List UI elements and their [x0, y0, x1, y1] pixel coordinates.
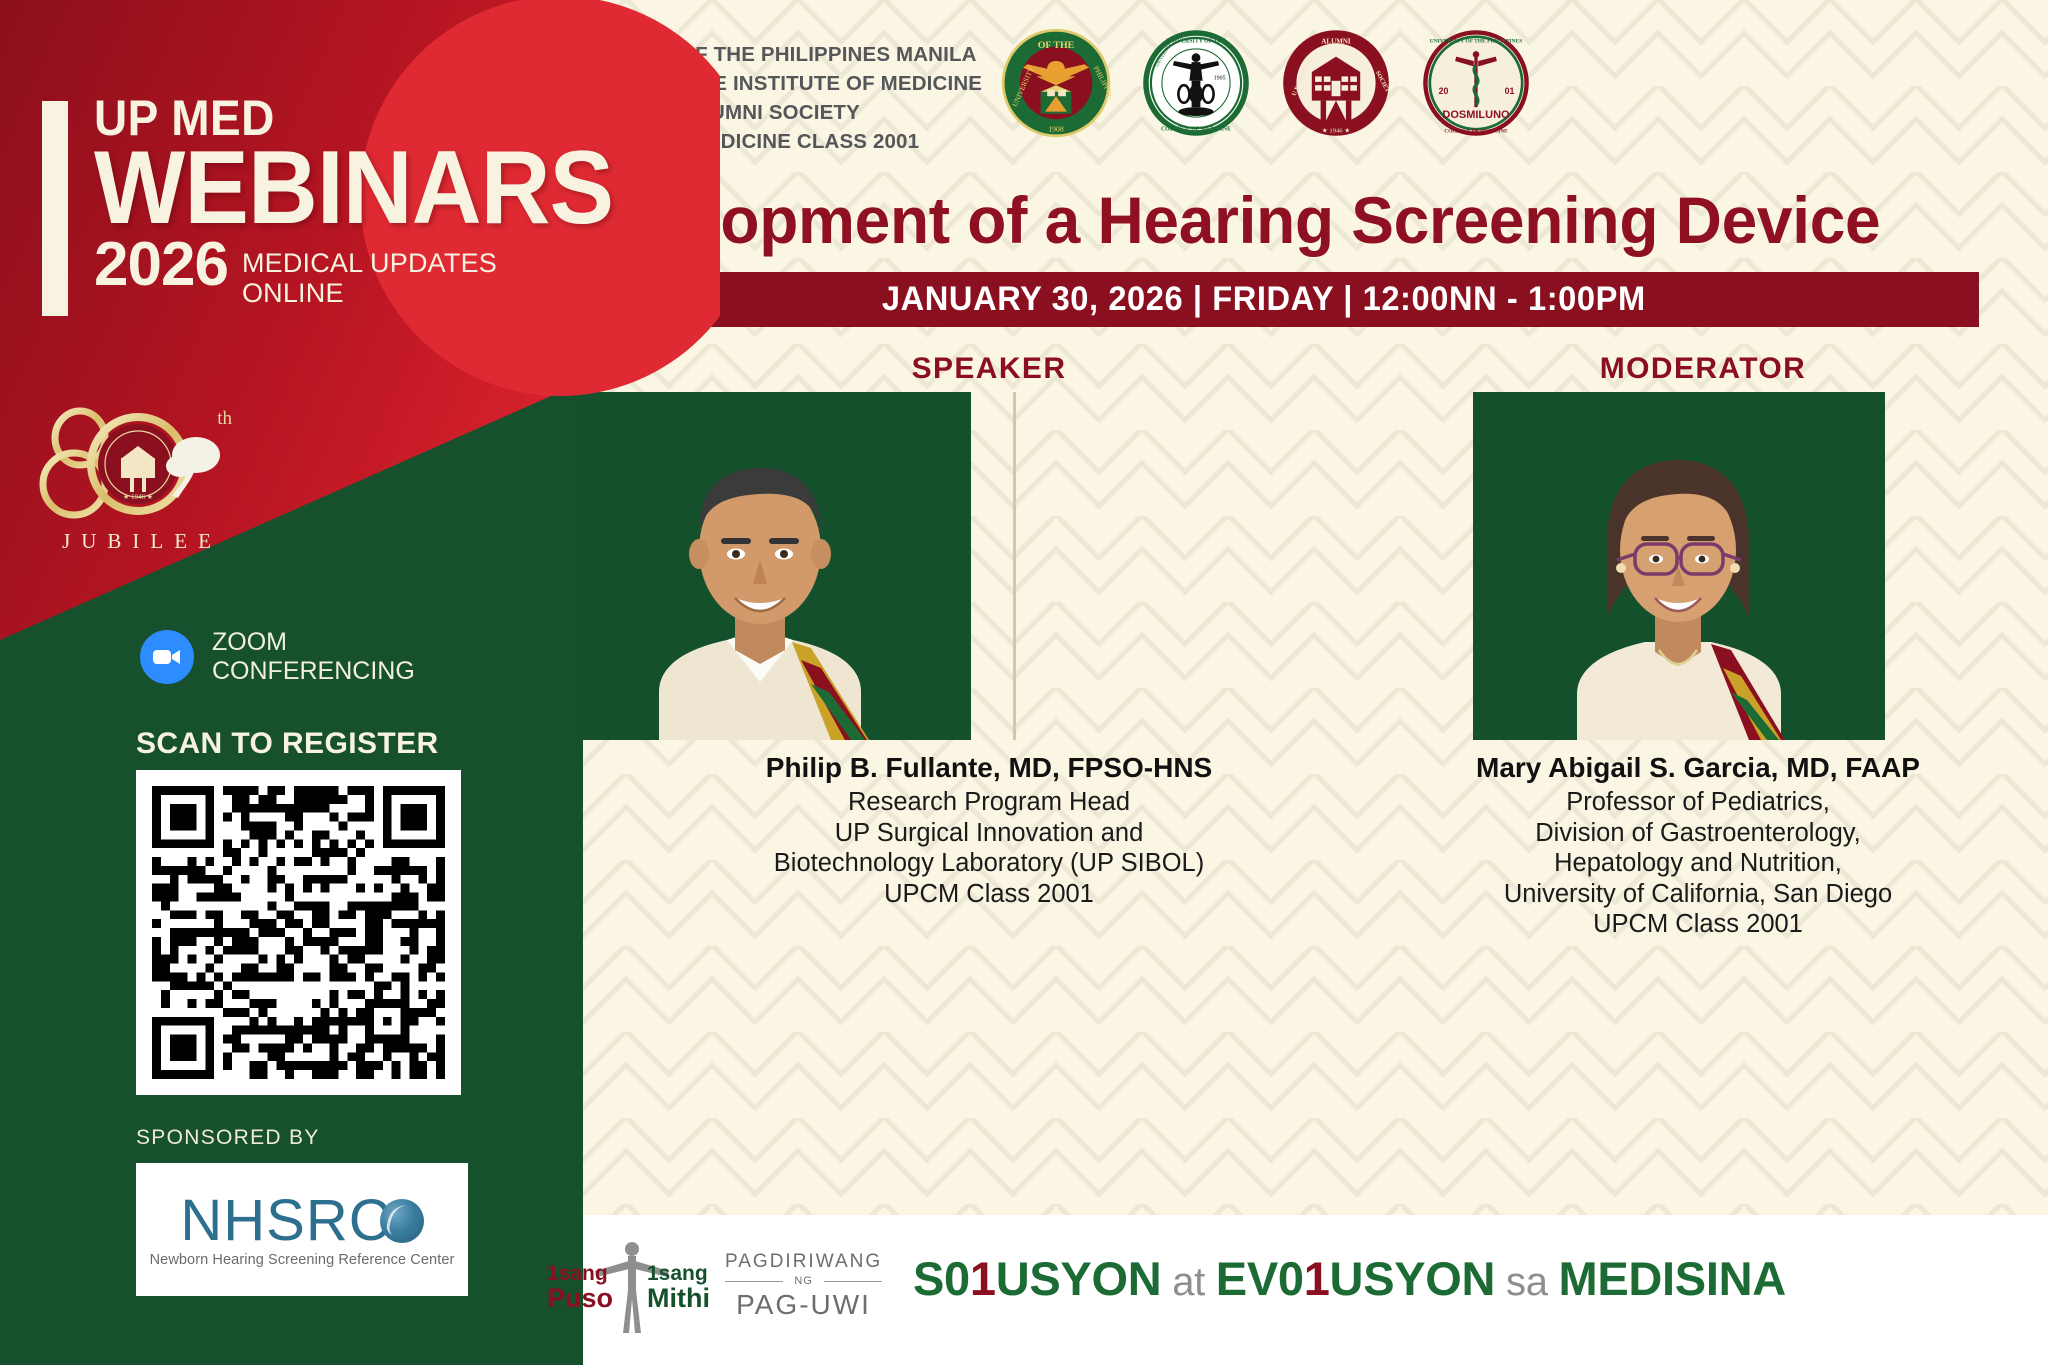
svg-text:ALUMNI: ALUMNI [1321, 37, 1351, 45]
puso-1sang: 1sang [547, 1263, 613, 1284]
logo-vertical-bar [42, 101, 68, 316]
tagline-part-6: USYON [1330, 1252, 1496, 1305]
scan-to-register-title: SCAN TO REGISTER [136, 727, 439, 761]
institution-seals: OF THE 1908 UNIVERSITY PHILIPPINES [1001, 28, 1531, 138]
speaker-line-3: Biotechnology Laboratory (UP SIBOL) [583, 848, 1429, 879]
speaker-line-2: UP Surgical Innovation and [583, 818, 1429, 849]
tagline-part-8: MEDISINA [1558, 1252, 1785, 1305]
nhsrc-acronym: NHSRC [180, 1192, 391, 1250]
jubilee-80th-logo: ★ 1946 ★ th JUBILEE [28, 400, 248, 554]
tagline-part-7: sa [1495, 1260, 1558, 1304]
speaker-name: Philip B. Fullante, MD, FPSO-HNS [583, 752, 1429, 784]
pagdiriwang-top: PAGDIRIWANG [725, 1251, 882, 1273]
svg-text:1908: 1908 [1048, 124, 1064, 133]
up-medical-alumni-society-seal: ALUMNI ★ 1946 ★ U.P. MEDICAL SOCIETY [1281, 28, 1391, 138]
jubilee-ordinal: th [217, 408, 232, 430]
svg-text:OF THE: OF THE [1038, 40, 1075, 51]
pagdiriwang-bottom: PAG-UWI [725, 1289, 882, 1321]
speaker-line-1: Research Program Head [583, 787, 1429, 818]
speaker-details: Philip B. Fullante, MD, FPSO-HNS Researc… [583, 752, 1429, 909]
moderator-name: Mary Abigail S. Garcia, MD, FAAP [1413, 752, 1983, 784]
logo-subtitle-2: ONLINE [242, 278, 497, 308]
up-med-webinars-logo: UP MED WEBINARS 2026 MEDICAL UPDATES ONL… [42, 95, 562, 316]
moderator-line-3: Hepatology and Nutrition, [1413, 848, 1983, 879]
pagdiriwang-ng: NG [725, 1275, 882, 1287]
zoom-label-line1: ZOOM [212, 628, 415, 657]
svg-text:★ 1946 ★: ★ 1946 ★ [1322, 126, 1350, 134]
qr-code-image [152, 786, 445, 1079]
moderator-line-4: University of California, San Diego [1413, 879, 1983, 910]
moderator-line-1: Professor of Pediatrics, [1413, 787, 1983, 818]
video-camera-icon [140, 630, 194, 684]
logo-subtitle-1: MEDICAL UPDATES [242, 248, 497, 278]
moderator-line-2: Division of Gastroenterology, [1413, 818, 1983, 849]
tagline-part-2: USYON [996, 1252, 1162, 1305]
main-content: UNIVERSITY OF THE PHILIPPINES MANILA POS… [583, 0, 2048, 1365]
svg-text:20: 20 [1439, 86, 1449, 96]
pagdiriwang-ng-paguwi-logo: PAGDIRIWANG NG PAG-UWI [725, 1251, 882, 1321]
svg-text:1905: 1905 [1214, 76, 1226, 82]
globe-icon [380, 1199, 424, 1243]
moderator-details: Mary Abigail S. Garcia, MD, FAAP Profess… [1413, 752, 1983, 940]
svg-text:UNIVERSITY OF THE: UNIVERSITY OF THE [1166, 38, 1225, 44]
qr-code-register[interactable] [136, 770, 461, 1095]
tagline-part-4: EV0 [1216, 1252, 1304, 1305]
event-date-text: JANUARY 30, 2026 | FRIDAY | 12:00NN - 1:… [882, 280, 1646, 319]
nhsrc-tagline: Newborn Hearing Screening Reference Cent… [150, 1252, 455, 1268]
sponsor-logo-nhsrc: NHSRC Newborn Hearing Screening Referenc… [136, 1163, 468, 1296]
zoom-conferencing-row: ZOOM CONFERENCING [140, 628, 415, 686]
moderator-line-5: UPCM Class 2001 [1413, 909, 1983, 940]
puso-word: Puso [547, 1284, 613, 1312]
tagline-part-0: S0 [913, 1252, 970, 1305]
up-system-seal: OF THE 1908 UNIVERSITY PHILIPPINES [1001, 28, 1111, 138]
tagline-part-3: at [1161, 1260, 1215, 1304]
svg-text:DOSMILUNO: DOSMILUNO [1442, 109, 1510, 121]
tagline-part-5: 1 [1304, 1252, 1330, 1305]
svg-text:COLLEGE OF MEDICINE: COLLEGE OF MEDICINE [1444, 129, 1508, 135]
tagline-part-1: 1 [970, 1252, 996, 1305]
logo-webinars-text: WEBINARS [94, 143, 613, 235]
svg-text:COLLEGE OF MEDICINE: COLLEGE OF MEDICINE [1161, 126, 1231, 132]
isang-puso-isang-mithi-logo: 1sang Puso 1sang Mithi [547, 1237, 717, 1335]
jubilee-label: JUBILEE [28, 529, 248, 554]
event-date-bar: JANUARY 30, 2026 | FRIDAY | 12:00NN - 1:… [583, 272, 1979, 327]
zoom-label-line2: CONFERENCING [212, 657, 415, 686]
mithi-word: Mithi [647, 1284, 710, 1312]
footer-logo-group: 1sang Puso 1sang Mithi PAGDIRIWANG NG PA… [547, 1237, 882, 1335]
photo-divider [1013, 392, 1016, 740]
sponsored-by-label: SPONSORED BY [136, 1126, 320, 1150]
svg-text:01: 01 [1505, 86, 1515, 96]
moderator-photo [1473, 392, 1885, 740]
footer-bar: 1sang Puso 1sang Mithi PAGDIRIWANG NG PA… [583, 1215, 2048, 1365]
mithi-1sang: 1sang [647, 1263, 710, 1284]
upcm-class-2001-dosmiluno-seal: UNIVERSITY OF THE PHILIPPINES COLLEGE OF… [1421, 28, 1531, 138]
svg-text:★ 1946 ★: ★ 1946 ★ [123, 493, 153, 501]
footer-tagline: S01USYON at EV01USYON sa MEDISINA [913, 1251, 1786, 1306]
svg-text:UNIVERSITY OF THE PHILIPPINES: UNIVERSITY OF THE PHILIPPINES [1430, 38, 1523, 44]
speaker-line-4: UPCM Class 2001 [583, 879, 1429, 910]
moderator-role-label: MODERATOR [1423, 352, 1983, 386]
up-manila-college-of-medicine-seal: UNIVERSITY OF THE COLLEGE OF MEDICINE 19… [1141, 28, 1251, 138]
page-title: Development of a Hearing Screening Devic… [583, 182, 1928, 258]
